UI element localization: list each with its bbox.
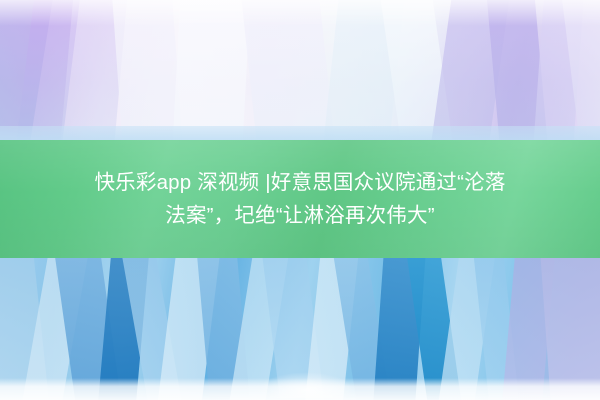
promo-banner: 快乐彩app 深视频 |好意思国众议院通过“沦落 法案”，圮绝“让淋浴再次伟大” [0,0,600,400]
caption-bar: 快乐彩app 深视频 |好意思国众议院通过“沦落 法案”，圮绝“让淋浴再次伟大” [0,140,600,258]
caption-line-2: 法案”，圮绝“让淋浴再次伟大” [165,204,434,227]
pre-caption-strip [0,126,600,140]
caption-line-1: 快乐彩app 深视频 |好意思国众议院通过“沦落 [94,171,505,194]
bottom-glow-artifact [258,372,354,398]
top-sheen-overlay [0,0,600,26]
caption-text: 快乐彩app 深视频 |好意思国众议院通过“沦落 法案”，圮绝“让淋浴再次伟大” [10,166,590,232]
